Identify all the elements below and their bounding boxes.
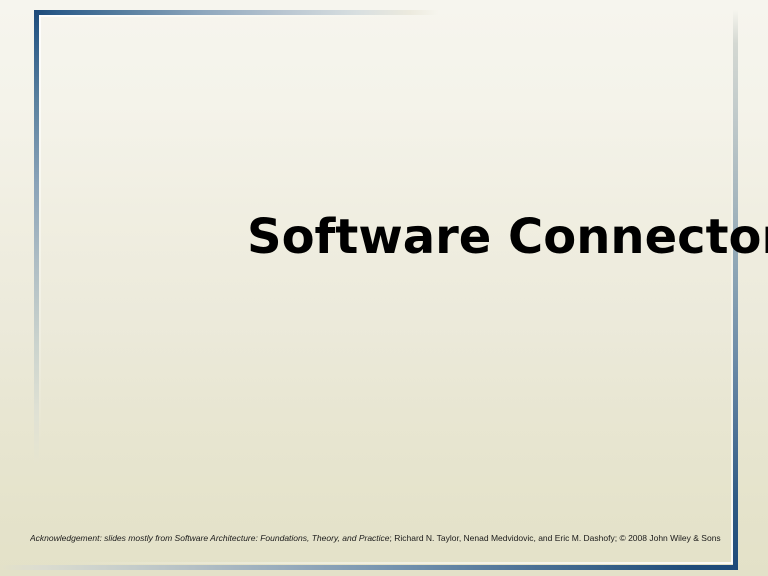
slide-frame-top-highlight (39, 15, 419, 17)
slide-frame-bottom-highlight (60, 562, 732, 564)
slide-frame-left-highlight (39, 15, 41, 445)
slide-title: Software Connectors (247, 208, 768, 266)
slide-frame-right-border (733, 10, 738, 570)
slide-frame-top-border (34, 10, 438, 15)
slide-frame-right-highlight (731, 40, 733, 564)
acknowledgement-authors-text: ; Richard N. Taylor, Nenad Medvidovic, a… (390, 533, 721, 543)
slide-title-block: Software Connectors (247, 208, 768, 266)
slide-frame-bottom-border (0, 565, 738, 570)
slide-frame-left-border (34, 10, 39, 466)
acknowledgement-source-text: Acknowledgement: slides mostly from Soft… (30, 533, 390, 543)
acknowledgement-footnote: Acknowledgement: slides mostly from Soft… (30, 532, 742, 546)
presentation-slide: Software Connectors Acknowledgement: sli… (0, 0, 768, 576)
